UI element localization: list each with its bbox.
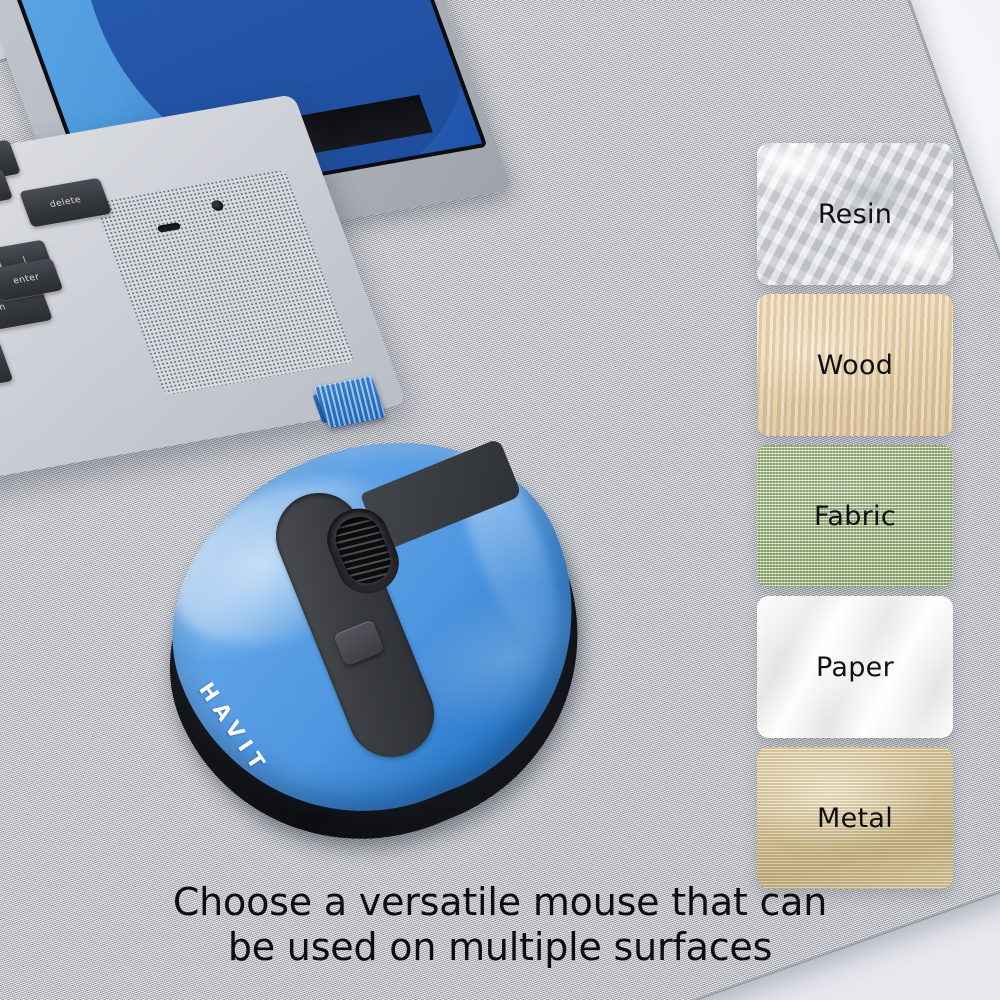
caption-line-2: be used on multiple surfaces [0,925,1000,970]
havit-wireless-mouse: HAVIT [160,440,600,870]
swatch-label-resin: Resin [818,199,892,230]
swatch-paper[interactable]: Paper [757,596,953,738]
key-shift[interactable]: shift [0,339,13,402]
product-marketing-image: OP{+=delete:"}|returnentershift HAVIT Re… [0,0,1000,1000]
swatch-label-fabric: Fabric [814,501,896,532]
swatch-fabric[interactable]: Fabric [757,445,953,587]
swatch-label-wood: Wood [817,350,894,381]
caption-line-1: Choose a versatile mouse that can [0,880,1000,925]
swatch-label-metal: Metal [817,803,893,834]
key-enter[interactable]: enter [0,258,63,301]
swatch-resin[interactable]: Resin [757,143,953,285]
surface-swatch-list: Resin Wood Fabric Paper Metal [757,143,953,898]
swatch-label-paper: Paper [816,652,894,683]
caption: Choose a versatile mouse that can be use… [0,880,1000,970]
swatch-metal[interactable]: Metal [757,747,953,889]
key-delete[interactable]: delete [19,178,112,228]
swatch-wood[interactable]: Wood [757,294,953,436]
